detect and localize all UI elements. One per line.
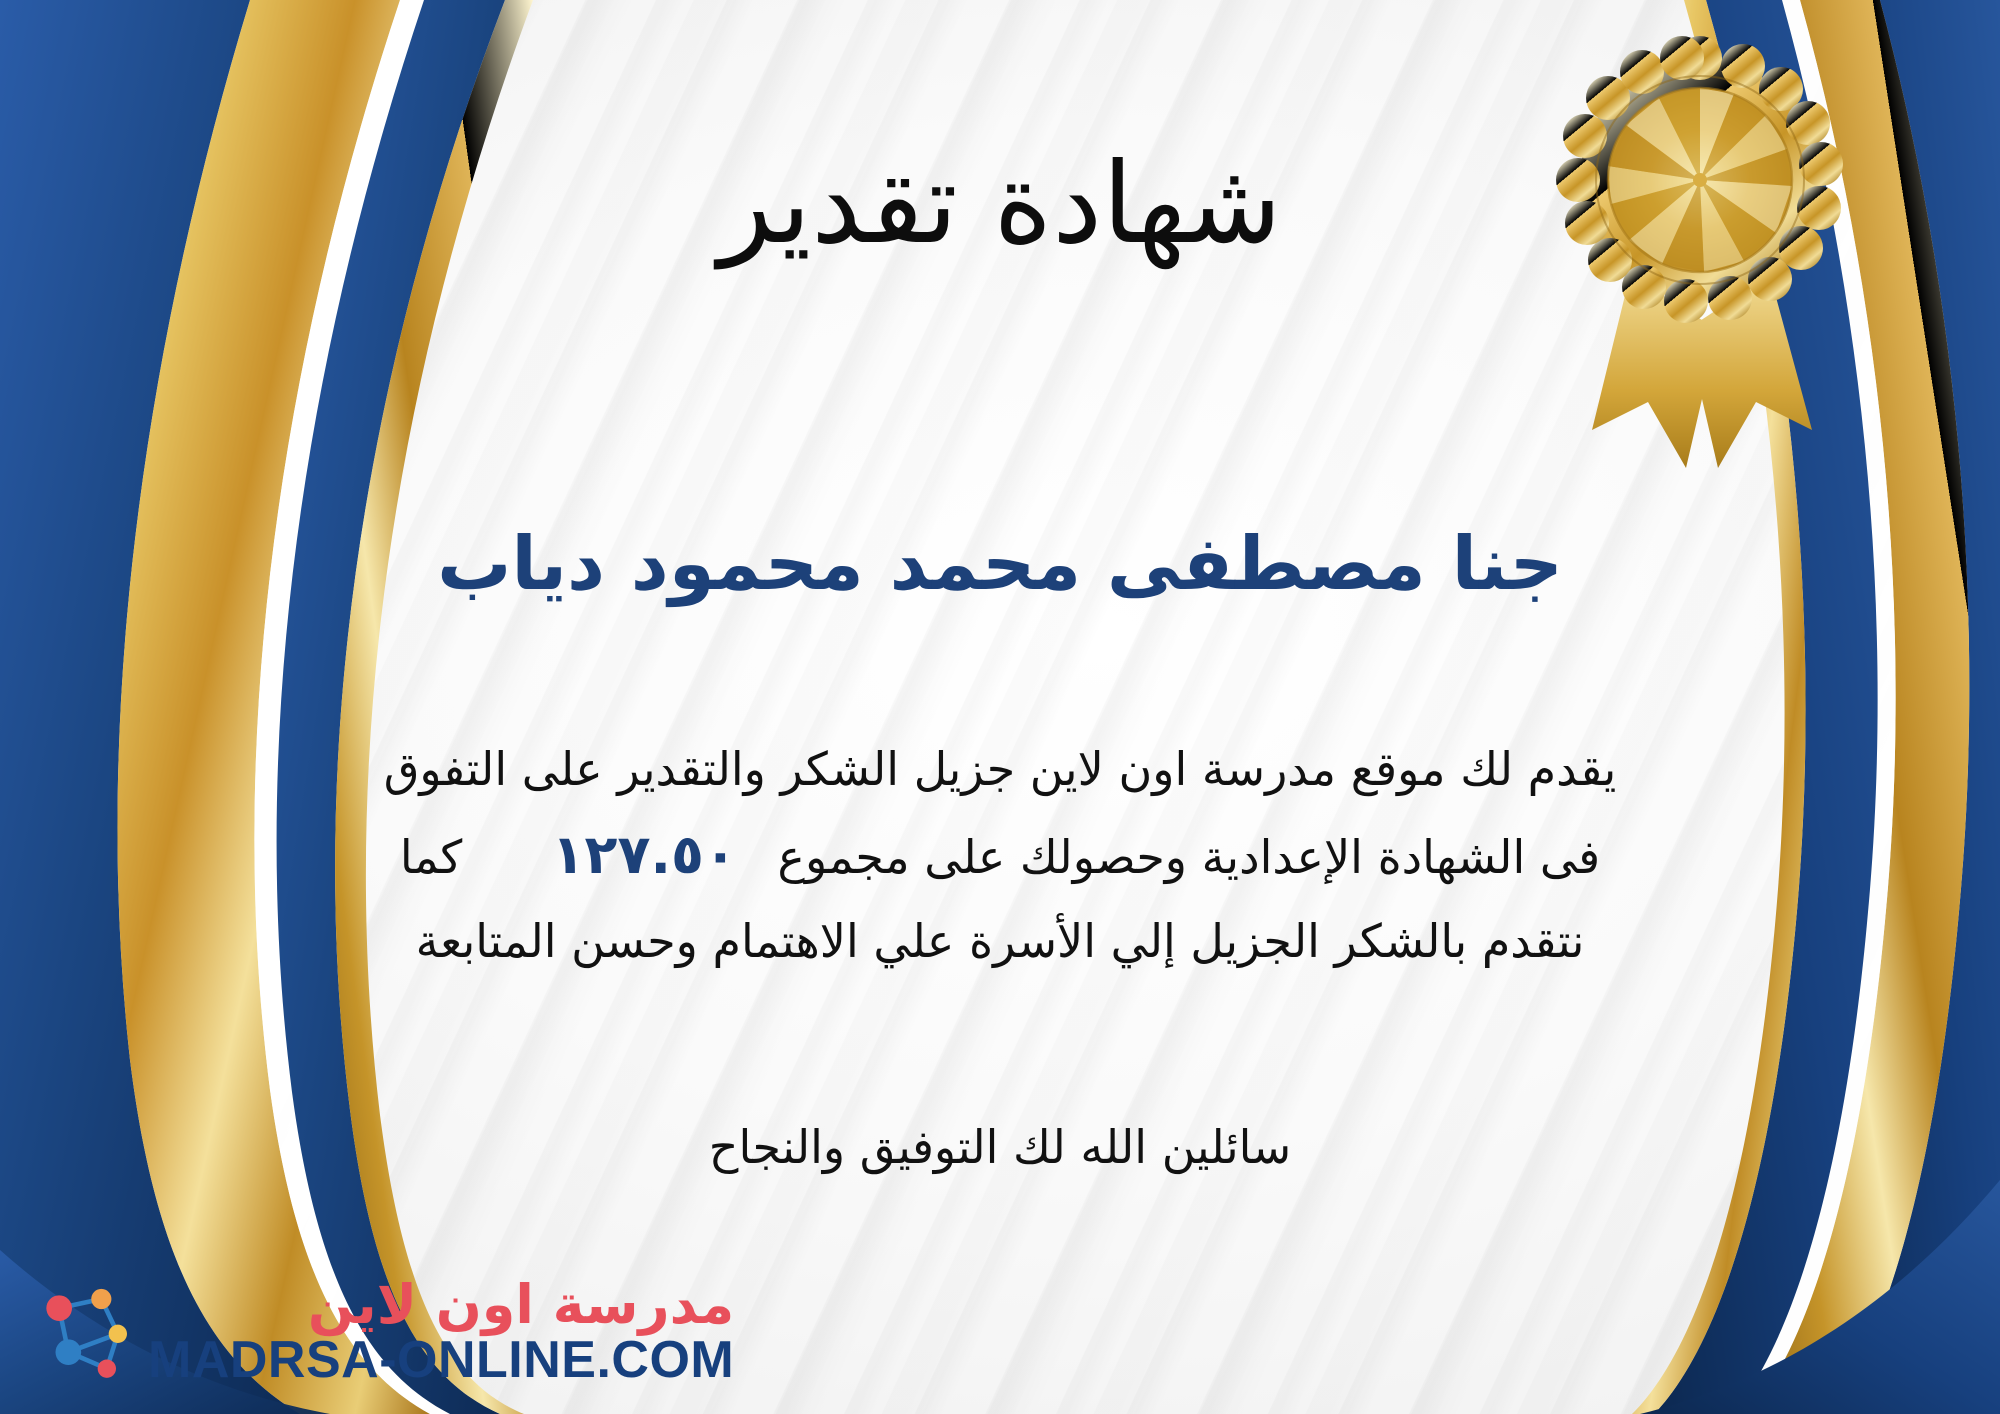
brand-text: مدرسة اون لاين MADRSA-ONLINE.COM <box>148 1277 734 1388</box>
body-line-2: فى الشهادة الإعدادية وحصولك على مجموع ١٢… <box>60 809 1940 902</box>
body-line-2-prefix: فى الشهادة الإعدادية وحصولك على مجموع <box>778 830 1601 884</box>
network-nodes-icon <box>28 1277 138 1387</box>
certificate-title: شهادة تقدير <box>0 140 2000 269</box>
brand-lockup[interactable]: مدرسة اون لاين MADRSA-ONLINE.COM <box>28 1277 734 1388</box>
closing-line: سائلين الله لك التوفيق والنجاح <box>0 1120 2000 1174</box>
body-line-1: يقدم لك موقع مدرسة اون لاين جزيل الشكر و… <box>60 730 1940 809</box>
score-value: ١٢٧.٥٠ <box>526 823 763 886</box>
certificate-page: شهادة تقدير جنا مصطفى محمد محمود دياب يق… <box>0 0 2000 1414</box>
brand-website: MADRSA-ONLINE.COM <box>148 1333 734 1388</box>
body-line-3: نتقدم بالشكر الجزيل إلي الأسرة علي الاهت… <box>60 902 1940 981</box>
brand-arabic-name: مدرسة اون لاين <box>308 1277 734 1334</box>
recipient-name: جنا مصطفى محمد محمود دياب <box>0 520 2000 609</box>
certificate-body: يقدم لك موقع مدرسة اون لاين جزيل الشكر و… <box>60 730 1940 981</box>
body-line-2-suffix: كما <box>400 830 463 884</box>
certificate-content: شهادة تقدير جنا مصطفى محمد محمود دياب يق… <box>0 0 2000 1414</box>
